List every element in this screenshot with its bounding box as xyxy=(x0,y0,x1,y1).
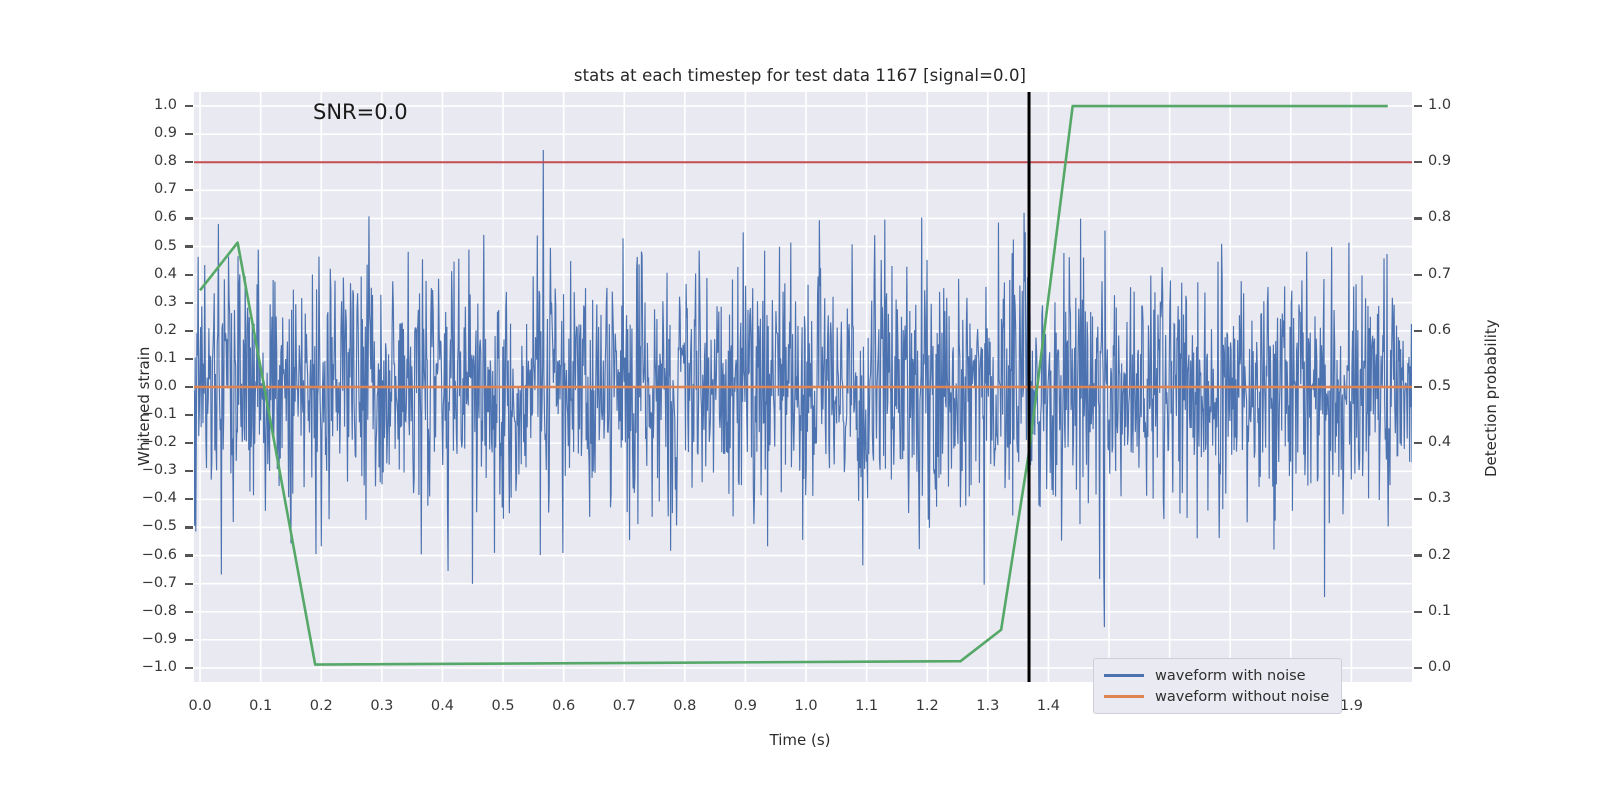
legend-item-label: waveform without noise xyxy=(1155,689,1329,705)
y-axis-left-tick-label: 0.1 xyxy=(89,350,177,366)
y-axis-right-tick-mark xyxy=(1414,274,1422,276)
y-axis-right-tick-label: 0.2 xyxy=(1428,547,1488,563)
y-axis-left-tick-mark xyxy=(185,583,193,585)
x-axis-label: Time (s) xyxy=(0,731,1600,749)
figure-canvas: stats at each timestep for test data 116… xyxy=(0,0,1600,800)
legend-item[interactable]: waveform without noise xyxy=(1104,686,1329,707)
y-axis-left-tick-label: −0.9 xyxy=(89,631,177,647)
y-axis-left-tick-label: 0.8 xyxy=(89,153,177,169)
data-layer xyxy=(194,92,1412,682)
y-axis-left-tick-mark xyxy=(185,189,193,191)
y-axis-left-tick-label: −0.7 xyxy=(89,575,177,591)
y-axis-left-tick-label: 0.5 xyxy=(89,238,177,254)
y-axis-right-tick-label: 0.5 xyxy=(1428,378,1488,394)
y-axis-right-tick-label: 0.3 xyxy=(1428,490,1488,506)
y-axis-left-tick-mark xyxy=(185,667,193,669)
y-axis-left-tick-label: −0.6 xyxy=(89,547,177,563)
y-axis-right-tick-mark xyxy=(1414,330,1422,332)
y-axis-left-tick-label: −0.2 xyxy=(89,434,177,450)
y-axis-right-tick-mark xyxy=(1414,386,1422,388)
legend-swatch-icon xyxy=(1104,674,1144,677)
y-axis-left-tick-label: 0.9 xyxy=(89,125,177,141)
y-axis-right-tick-label: 0.9 xyxy=(1428,153,1488,169)
y-axis-left-tick-label: 0.0 xyxy=(89,378,177,394)
y-axis-left-tick-mark xyxy=(185,470,193,472)
series-waveform-with-noise xyxy=(194,150,1412,627)
snr-annotation: SNR=0.0 xyxy=(313,100,408,124)
y-axis-right-tick-label: 0.6 xyxy=(1428,322,1488,338)
y-axis-left-tick-mark xyxy=(185,498,193,500)
y-axis-left-tick-label: 0.7 xyxy=(89,181,177,197)
y-axis-right-tick-label: 1.0 xyxy=(1428,97,1488,113)
y-axis-left-tick-label: −0.5 xyxy=(89,518,177,534)
y-axis-right-tick-mark xyxy=(1414,442,1422,444)
y-axis-left-tick-label: 0.6 xyxy=(89,209,177,225)
series-layer xyxy=(194,92,1412,682)
y-axis-left-tick-mark xyxy=(185,554,193,556)
legend-item-label: waveform with noise xyxy=(1155,668,1306,684)
y-axis-left-tick-mark xyxy=(185,302,193,304)
y-axis-right-tick-mark xyxy=(1414,554,1422,556)
plot-area xyxy=(194,92,1412,682)
y-axis-left-tick-mark xyxy=(185,274,193,276)
y-axis-left-tick-mark xyxy=(185,105,193,107)
y-axis-right-tick-mark xyxy=(1414,161,1422,163)
y-axis-right-tick-label: 0.7 xyxy=(1428,266,1488,282)
y-axis-right-tick-mark xyxy=(1414,611,1422,613)
y-axis-left-tick-mark xyxy=(185,161,193,163)
y-axis-left-tick-mark xyxy=(185,330,193,332)
y-axis-left-tick-mark xyxy=(185,639,193,641)
y-axis-right-label: Detection probability xyxy=(1482,319,1500,477)
y-axis-left-tick-mark xyxy=(185,442,193,444)
y-axis-right-tick-label: 0.1 xyxy=(1428,603,1488,619)
y-axis-left-tick-label: −1.0 xyxy=(89,659,177,675)
y-axis-left-tick-label: 0.4 xyxy=(89,266,177,282)
y-axis-left-tick-mark xyxy=(185,245,193,247)
y-axis-left-tick-mark xyxy=(185,386,193,388)
y-axis-left-tick-label: −0.3 xyxy=(89,462,177,478)
y-axis-left-tick-label: −0.8 xyxy=(89,603,177,619)
y-axis-right-tick-label: 0.0 xyxy=(1428,659,1488,675)
y-axis-left-tick-label: −0.4 xyxy=(89,490,177,506)
y-axis-left-tick-mark xyxy=(185,133,193,135)
y-axis-left-tick-label: 1.0 xyxy=(89,97,177,113)
y-axis-left-tick-label: 0.2 xyxy=(89,322,177,338)
legend-swatch-icon xyxy=(1104,695,1144,698)
legend: waveform with noisewaveform without nois… xyxy=(1093,658,1342,714)
y-axis-left-tick-mark xyxy=(185,217,193,219)
legend-item[interactable]: waveform with noise xyxy=(1104,665,1329,686)
y-axis-right-tick-mark xyxy=(1414,498,1422,500)
y-axis-left-label: Whitened strain xyxy=(135,347,153,466)
page-title: stats at each timestep for test data 116… xyxy=(0,66,1600,85)
y-axis-right-tick-mark xyxy=(1414,105,1422,107)
y-axis-left-tick-label: −0.1 xyxy=(89,406,177,422)
y-axis-right-tick-mark xyxy=(1414,667,1422,669)
y-axis-left-tick-mark xyxy=(185,414,193,416)
y-axis-left-tick-mark xyxy=(185,358,193,360)
y-axis-right-tick-label: 0.8 xyxy=(1428,209,1488,225)
y-axis-right-tick-label: 0.4 xyxy=(1428,434,1488,450)
y-axis-left-tick-mark xyxy=(185,611,193,613)
y-axis-left-tick-label: 0.3 xyxy=(89,294,177,310)
y-axis-right-tick-mark xyxy=(1414,217,1422,219)
y-axis-left-tick-mark xyxy=(185,526,193,528)
